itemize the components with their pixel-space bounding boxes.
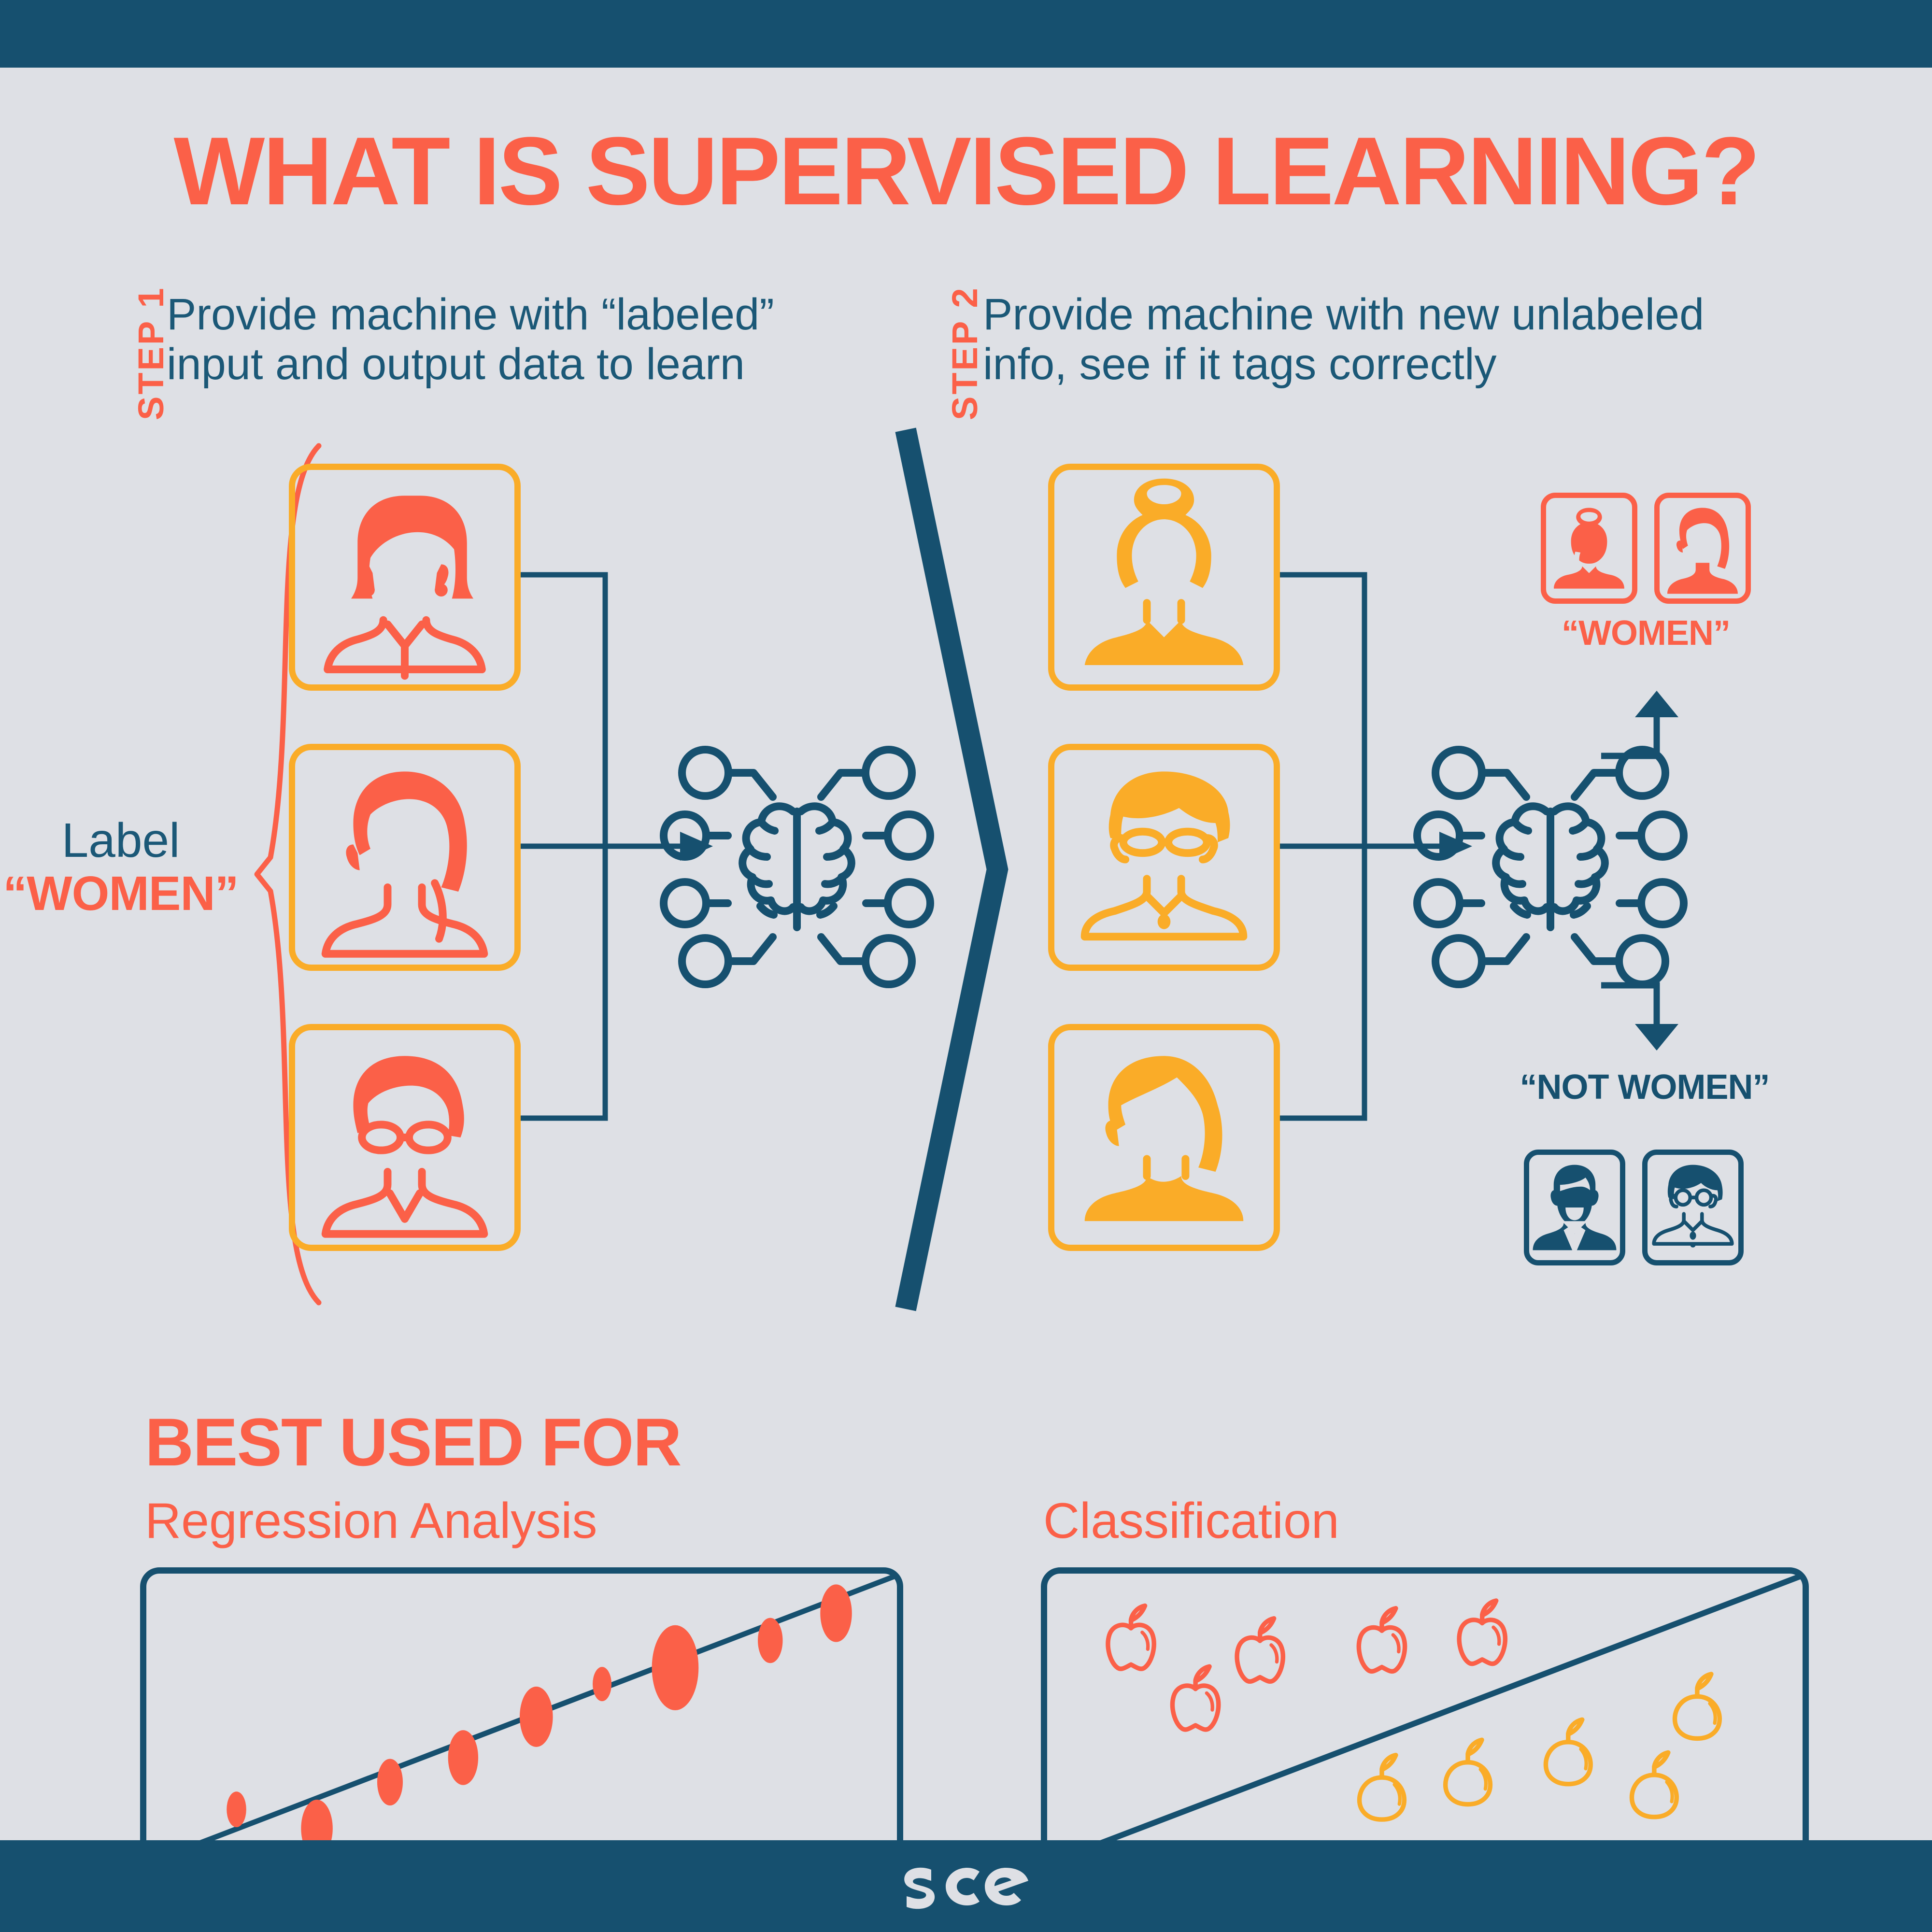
step-1-card-3[interactable] (289, 1024, 521, 1251)
apple-icon (1459, 1601, 1505, 1664)
scatter-point (448, 1730, 478, 1785)
step-1-card-1[interactable] (289, 464, 521, 691)
output-branch-arrows (1589, 691, 1782, 1048)
woman-long-hair-avatar-icon (295, 750, 514, 965)
scatter-point (377, 1759, 403, 1805)
infographic-page: WHAT IS SUPERVISED LEARNING? STEP 1 Prov… (0, 0, 1932, 1932)
classification-chart (1047, 1574, 1803, 1865)
step-1-badge: STEP 1 (130, 286, 171, 420)
step-2-card-3[interactable] (1048, 1024, 1280, 1251)
man-beard-suit-avatar-icon (1529, 1155, 1620, 1260)
orange-icon (1675, 1674, 1720, 1738)
step-1-description: Provide machine with “labeled” input and… (167, 290, 901, 389)
orange-icon (1546, 1719, 1591, 1784)
apple-icon (1237, 1619, 1283, 1682)
man-glasses-avatar-icon (1054, 750, 1274, 965)
step-2-card-1[interactable] (1048, 464, 1280, 691)
woman-bun-bow-avatar-icon (1054, 470, 1274, 684)
scatter-point (758, 1618, 782, 1663)
orange-icon (1360, 1755, 1405, 1819)
woman-glasses-avatar-icon (295, 1030, 514, 1245)
output-not-women-label: “NOT WOMEN” (1490, 1067, 1799, 1107)
output-women-card-2[interactable] (1654, 493, 1751, 604)
scatter-point (520, 1687, 553, 1747)
top-bar (0, 0, 1932, 68)
apple-icon (1108, 1606, 1154, 1669)
orange-icon (1632, 1752, 1676, 1817)
scatter-point (227, 1791, 246, 1827)
footer (0, 1840, 1932, 1932)
step-2-badge: STEP 2 (944, 286, 985, 420)
apple-icon (1359, 1608, 1405, 1672)
classification-plot-box (1041, 1567, 1809, 1872)
scatter-point (820, 1584, 852, 1642)
label-value: “WOMEN” (0, 869, 256, 918)
scatter-point (652, 1625, 699, 1710)
scatter-point (593, 1667, 611, 1701)
apple-icon (1173, 1666, 1219, 1730)
regression-plot-box (140, 1567, 903, 1872)
woman-bun-bow-avatar-icon (1546, 498, 1632, 598)
woman-sidehair-avatar-icon (1054, 1030, 1274, 1245)
output-not-women-card-2[interactable] (1642, 1150, 1744, 1265)
woman-long-hair-avatar-icon (1660, 498, 1746, 598)
panel-title-classification: Classification (1043, 1492, 1339, 1550)
step-1-card-2[interactable] (289, 744, 521, 971)
woman-bob-haircut-avatar-icon (295, 470, 514, 684)
neural-network-brain-icon (662, 724, 932, 995)
page-title: WHAT IS SUPERVISED LEARNING? (0, 123, 1932, 220)
orange-icon (1446, 1740, 1491, 1804)
decision-boundary-line (1050, 1577, 1800, 1862)
label-caption: Label (0, 816, 256, 865)
step-2-card-2[interactable] (1048, 744, 1280, 971)
sce-logo-icon (894, 1857, 1038, 1915)
step-2-description: Provide machine with new unlabeled info,… (983, 290, 1872, 389)
output-women-card-1[interactable] (1541, 493, 1637, 604)
regression-scatter-chart (146, 1574, 897, 1865)
panel-title-regression: Regression Analysis (145, 1492, 597, 1550)
man-glasses-shirt-avatar-icon (1648, 1155, 1738, 1260)
output-women-label: “WOMEN” (1541, 613, 1751, 653)
best-used-for-heading: BEST USED FOR (145, 1403, 681, 1481)
output-not-women-card-1[interactable] (1524, 1150, 1625, 1265)
